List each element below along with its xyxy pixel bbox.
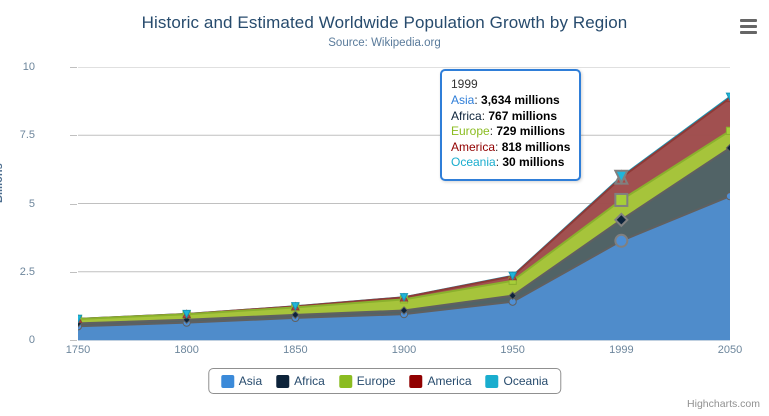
x-axis-label: 1800 — [174, 344, 198, 356]
y-axis-tick — [70, 135, 77, 136]
marker-asia[interactable] — [726, 193, 730, 200]
y-axis-tick — [70, 204, 77, 205]
legend-item-africa[interactable]: Africa — [276, 374, 325, 388]
tooltip-row: Oceania: 30 millions — [451, 155, 570, 171]
y-axis-label: 7.5 — [0, 129, 35, 141]
tooltip-separator: : — [474, 93, 481, 107]
tooltip: 1999 Asia: 3,634 millionsAfrica: 767 mil… — [440, 69, 581, 181]
plot-area — [78, 67, 730, 340]
legend-label: Asia — [239, 374, 262, 388]
legend-label: America — [428, 374, 472, 388]
tooltip-series-value: 30 millions — [502, 155, 564, 169]
legend-swatch-icon — [339, 375, 352, 388]
tooltip-separator: : — [495, 140, 502, 154]
credits-link[interactable]: Highcharts.com — [687, 398, 760, 410]
legend-item-oceania[interactable]: Oceania — [486, 374, 549, 388]
chart-subtitle: Source: Wikipedia.org — [0, 37, 769, 49]
legend-item-america[interactable]: America — [410, 374, 472, 388]
legend-label: Oceania — [504, 374, 549, 388]
tooltip-row: America: 818 millions — [451, 140, 570, 156]
legend: AsiaAfricaEuropeAmericaOceania — [208, 368, 561, 394]
series-canvas — [78, 67, 730, 340]
legend-label: Africa — [294, 374, 325, 388]
x-axis-label: 1850 — [283, 344, 307, 356]
hamburger-bar — [740, 19, 757, 22]
y-axis-label: 2.5 — [0, 266, 35, 278]
tooltip-series-name: Asia — [451, 93, 474, 107]
tooltip-series-value: 818 millions — [502, 140, 571, 154]
chart-title: Historic and Estimated Worldwide Populat… — [0, 13, 769, 33]
marker-europe[interactable] — [615, 194, 627, 206]
tooltip-series-value: 767 millions — [488, 109, 557, 123]
tooltip-header: 1999 — [451, 77, 570, 91]
x-axis-label: 2050 — [718, 344, 742, 356]
tooltip-series-name: Africa — [451, 109, 482, 123]
tooltip-row: Asia: 3,634 millions — [451, 93, 570, 109]
marker-europe[interactable] — [726, 127, 730, 134]
legend-swatch-icon — [486, 375, 499, 388]
hamburger-bar — [740, 31, 757, 34]
y-axis-tick — [70, 272, 77, 273]
legend-label: Europe — [357, 374, 396, 388]
legend-swatch-icon — [276, 375, 289, 388]
tooltip-series-value: 3,634 millions — [481, 93, 560, 107]
marker-asia[interactable] — [615, 235, 627, 247]
x-axis-line — [78, 340, 730, 341]
y-axis-label: 5 — [0, 198, 35, 210]
x-axis-label: 1750 — [66, 344, 90, 356]
legend-swatch-icon — [410, 375, 423, 388]
highcharts-chart: Historic and Estimated Worldwide Populat… — [0, 0, 769, 416]
y-axis-label: 10 — [0, 61, 35, 73]
y-axis-tick — [70, 67, 77, 68]
legend-swatch-icon — [221, 375, 234, 388]
tooltip-rows: Asia: 3,634 millionsAfrica: 767 millions… — [451, 93, 570, 171]
tooltip-series-name: America — [451, 140, 495, 154]
tooltip-row: Europe: 729 millions — [451, 124, 570, 140]
tooltip-row: Africa: 767 millions — [451, 109, 570, 125]
tooltip-series-name: Oceania — [451, 155, 496, 169]
y-axis-tick — [70, 340, 77, 341]
x-axis-label: 1999 — [609, 344, 633, 356]
x-axis-label: 1950 — [500, 344, 524, 356]
legend-item-europe[interactable]: Europe — [339, 374, 396, 388]
y-axis-label: 0 — [0, 334, 35, 346]
legend-item-asia[interactable]: Asia — [221, 374, 262, 388]
hamburger-bar — [740, 25, 757, 28]
hamburger-menu-icon[interactable] — [735, 14, 761, 38]
tooltip-series-name: Europe — [451, 124, 490, 138]
tooltip-series-value: 729 millions — [496, 124, 565, 138]
x-axis-label: 1900 — [392, 344, 416, 356]
